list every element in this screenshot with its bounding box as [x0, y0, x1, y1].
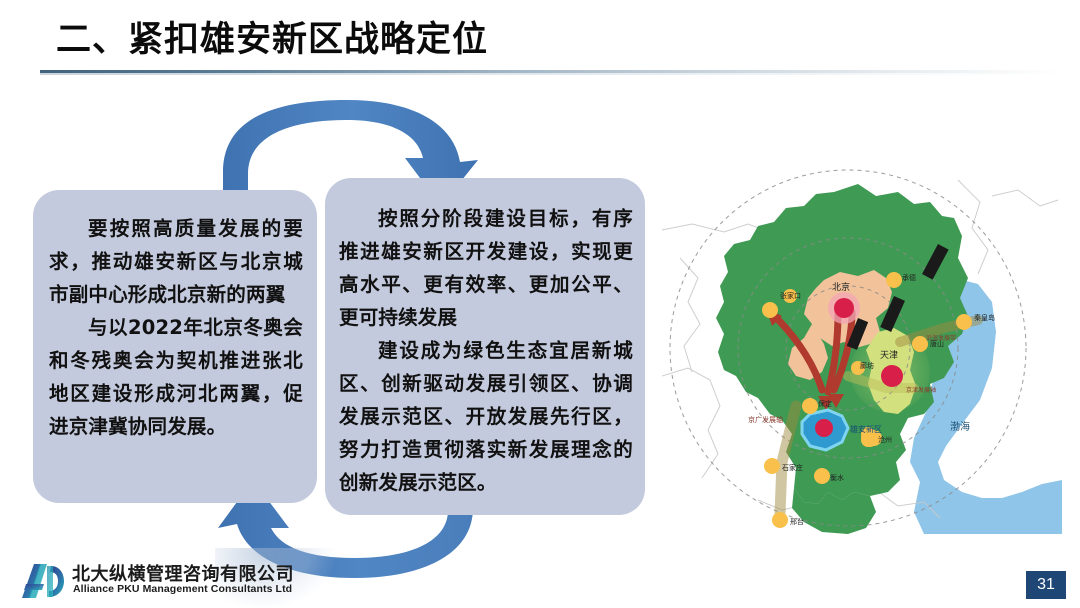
map-label-xiongan: 雄安新区	[850, 424, 882, 434]
jingjinji-region-map: 北京 天津 雄安新区 承德 张家口 唐山 秦皇岛 保定 廊坊 沧州 石家庄 衡水…	[662, 162, 1062, 534]
map-label-langfang: 廊坊	[860, 361, 874, 370]
map-label-corridor-3: 京津发展轴	[906, 386, 936, 394]
map-label-chengde: 承德	[902, 273, 916, 282]
pku-logo-icon	[18, 560, 66, 600]
map-label-hengshui: 衡水	[830, 473, 844, 482]
map-label-shijiazhuang: 石家庄	[782, 463, 803, 472]
map-beijing-dot	[834, 298, 854, 318]
map-tianjin-dot	[881, 365, 903, 387]
map-xiongan-core-dot	[815, 419, 833, 437]
page-number-badge: 31	[1026, 571, 1066, 599]
left-paragraph-2: 与以2022年北京冬奥会和冬残奥会为契机推进张北地区建设形成河北两翼，促进京津冀…	[49, 311, 303, 443]
map-label-beijing: 北京	[832, 281, 850, 293]
map-label-cangzhou: 沧州	[878, 435, 892, 444]
text-box-right: 按照分阶段建设目标，有序推进雄安新区开发建设，实现更高水平、更有效率、更加公平、…	[325, 178, 645, 515]
map-label-tianjin: 天津	[880, 350, 898, 361]
map-label-bohai: 渤海	[950, 420, 970, 433]
right-paragraph-2: 建设成为绿色生态宜居新城区、创新驱动发展引领区、协调发展示范区、开放发展先行区，…	[339, 334, 633, 499]
left-paragraph-1: 要按照高质量发展的要求，推动雄安新区与北京城市副中心形成北京新的两翼	[49, 212, 303, 311]
logo-company-name-en: Alliance PKU Management Consultants Ltd	[73, 583, 292, 595]
map-label-qinhuangdao: 秦皇岛	[974, 313, 995, 322]
company-logo: 北大纵横管理咨询有限公司 Alliance PKU Management Con…	[18, 558, 248, 604]
title-divider-shadow	[40, 73, 1060, 75]
map-label-xingtai: 邢台	[790, 517, 804, 526]
slide-canvas: 二、紧扣雄安新区战略定位	[0, 0, 1080, 608]
map-label-corridor-1: 京广发展轴	[748, 415, 783, 424]
right-paragraph-1: 按照分阶段建设目标，有序推进雄安新区开发建设，实现更高水平、更有效率、更加公平、…	[339, 202, 633, 334]
text-box-left: 要按照高质量发展的要求，推动雄安新区与北京城市副中心形成北京新的两翼 与以202…	[33, 190, 317, 503]
map-label-zhangjiakou: 张家口	[780, 291, 801, 300]
page-title: 二、紧扣雄安新区战略定位	[56, 11, 488, 62]
map-label-corridor-2: 沿海发展带	[926, 334, 956, 342]
map-label-baoding: 保定	[818, 399, 832, 408]
